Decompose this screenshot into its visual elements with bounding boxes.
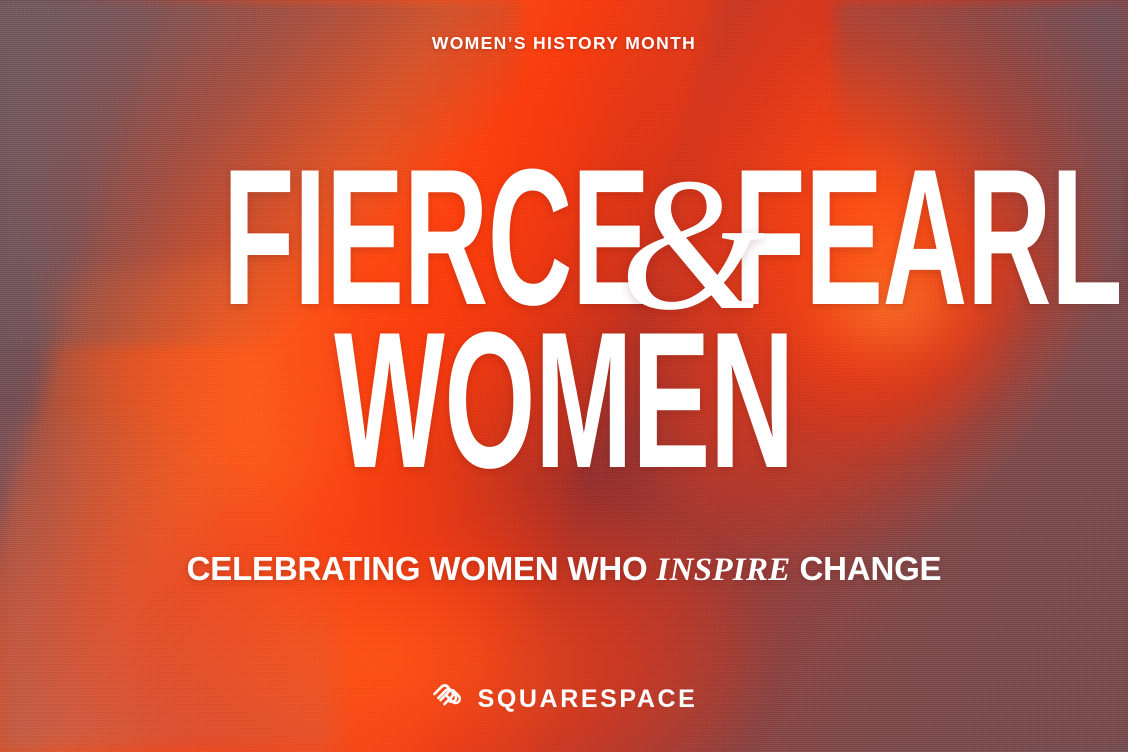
subtitle-text-before: CELEBRATING WOMEN WHO <box>187 550 657 587</box>
headline: FIERCE&FEARLESS WOMEN <box>0 160 1128 478</box>
poster-content: WOMEN’S HISTORY MONTH FIERCE&FEARLESS WO… <box>0 0 1128 752</box>
squarespace-logo-icon <box>431 682 465 714</box>
eyebrow-label: WOMEN’S HISTORY MONTH <box>0 33 1128 54</box>
womens-history-month-poster: WOMEN’S HISTORY MONTH FIERCE&FEARLESS WO… <box>0 0 1128 752</box>
brand-name: SQUARESPACE <box>478 687 698 712</box>
subtitle-text-after: CHANGE <box>791 550 942 587</box>
subtitle-emphasis-inspire: INSPIRE <box>656 552 790 588</box>
brand-lockup: SQUARESPACE <box>0 682 1128 714</box>
headline-line-2: WOMEN <box>223 323 905 478</box>
subtitle: CELEBRATING WOMEN WHO INSPIRE CHANGE <box>0 550 1128 589</box>
